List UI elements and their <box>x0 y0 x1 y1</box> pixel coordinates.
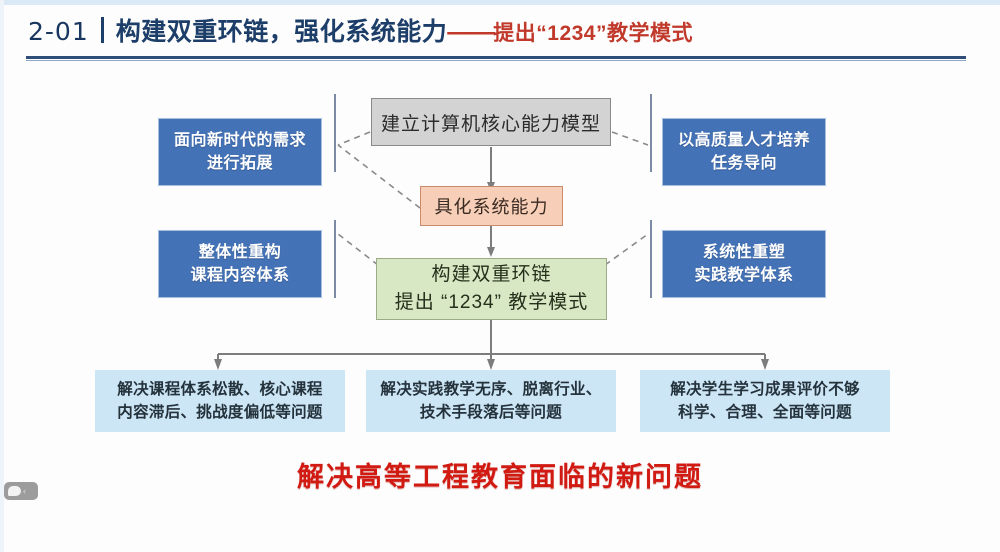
title-em-dash: —— <box>447 18 493 47</box>
node-outcome-curriculum[interactable]: 解决课程体系松散、核心课程 内容滞后、挑战度偏低等问题 <box>95 370 345 432</box>
node-left-curriculum-restructure[interactable]: 整体性重构 课程内容体系 <box>158 230 322 298</box>
node-left-new-era-demand-line1: 面向新时代的需求 <box>174 129 306 152</box>
node-dual-loop-core-line1: 构建双重环链 <box>431 261 551 290</box>
section-number: 2-01 <box>28 17 89 46</box>
node-right-practice-reshape-line2: 实践教学体系 <box>694 264 793 287</box>
title-underline-light <box>26 60 966 61</box>
speech-bubble-icon <box>8 486 21 496</box>
node-outcome-practice-line1: 解决实践教学无序、脱离行业、 <box>380 378 601 401</box>
title-main-text: 构建双重环链，强化系统能力 <box>116 12 448 48</box>
title-sub-text: 提出“1234”教学模式 <box>493 17 693 47</box>
node-right-talent-cultivation-line2: 任务导向 <box>711 152 777 175</box>
node-left-curriculum-restructure-line2: 课程内容体系 <box>190 264 289 287</box>
slide-header: 2-01 构建双重环链，强化系统能力 —— 提出“1234”教学模式 <box>0 6 1000 62</box>
node-outcome-curriculum-line2: 内容滞后、挑战度偏低等问题 <box>117 401 322 424</box>
node-left-new-era-demand-line2: 进行拓展 <box>207 152 273 175</box>
node-outcome-practice-line2: 技术手段落后等问题 <box>420 401 562 424</box>
vertical-separator-left-bottom <box>334 220 336 298</box>
node-dual-loop-core-line2: 提出 “1234” 教学模式 <box>395 289 588 318</box>
node-left-curriculum-restructure-line1: 整体性重构 <box>199 241 282 264</box>
vertical-separator-right-top <box>650 94 652 172</box>
node-right-talent-cultivation-line1: 以高质量人才培养 <box>678 129 810 152</box>
node-outcome-evaluation-line2: 科学、合理、全面等问题 <box>678 401 852 424</box>
node-outcome-curriculum-line1: 解决课程体系松散、核心课程 <box>117 378 322 401</box>
title-underline <box>26 56 966 59</box>
node-left-new-era-demand[interactable]: 面向新时代的需求 进行拓展 <box>158 118 322 186</box>
title-divider <box>101 17 104 43</box>
node-right-talent-cultivation[interactable]: 以高质量人才培养 任务导向 <box>662 118 826 186</box>
node-core-capability-model-label: 建立计算机核心能力模型 <box>381 109 601 136</box>
node-dual-loop-core[interactable]: 构建双重环链 提出 “1234” 教学模式 <box>376 258 607 320</box>
node-concretize-system-capability[interactable]: 具化系统能力 <box>420 186 563 226</box>
vertical-separator-right-bottom <box>650 220 652 298</box>
floating-comment-widget[interactable]: ‹ <box>4 482 38 500</box>
vertical-separator-left-top <box>334 94 336 172</box>
node-right-practice-reshape[interactable]: 系统性重塑 实践教学体系 <box>662 230 826 298</box>
page-title: 2-01 构建双重环链，强化系统能力 —— 提出“1234”教学模式 <box>28 12 693 48</box>
node-concretize-system-capability-label: 具化系统能力 <box>435 193 549 219</box>
node-outcome-evaluation[interactable]: 解决学生学习成果评价不够 科学、合理、全面等问题 <box>640 370 890 432</box>
chevron-left-icon[interactable]: ‹ <box>23 487 26 496</box>
node-core-capability-model[interactable]: 建立计算机核心能力模型 <box>371 98 611 146</box>
footer-headline: 解决高等工程教育面临的新问题 <box>0 455 1000 494</box>
node-outcome-evaluation-line1: 解决学生学习成果评价不够 <box>670 378 860 401</box>
node-right-practice-reshape-line1: 系统性重塑 <box>703 241 786 264</box>
top-accent-strip <box>0 0 1000 5</box>
node-outcome-practice[interactable]: 解决实践教学无序、脱离行业、 技术手段落后等问题 <box>366 370 616 432</box>
